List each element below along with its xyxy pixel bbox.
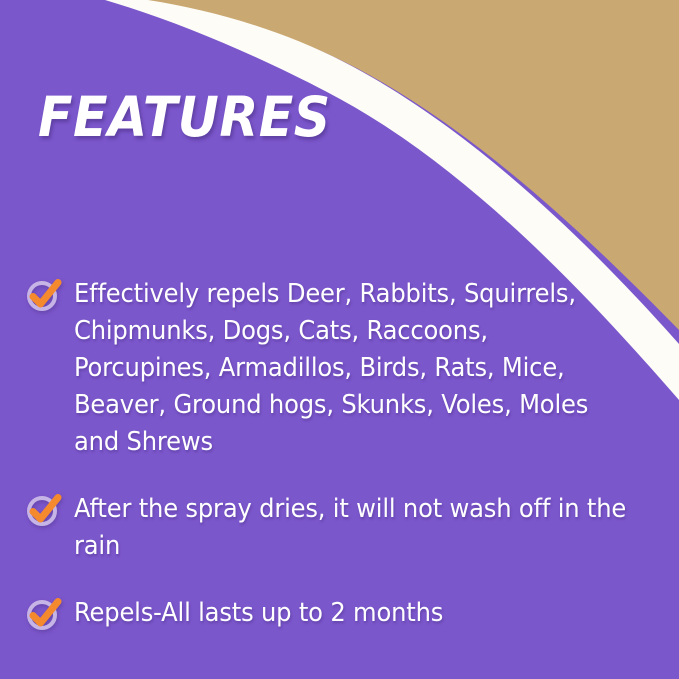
list-item: Repels-All lasts up to 2 months: [26, 595, 656, 632]
orange-check-circle-icon: [26, 278, 62, 312]
features-infographic-card: FEATURES Effectively repels Deer, Rabbit…: [0, 0, 679, 679]
orange-check-circle-icon: [26, 597, 62, 631]
list-item: Effectively repels Deer, Rabbits, Squirr…: [26, 276, 656, 461]
feature-text: Effectively repels Deer, Rabbits, Squirr…: [74, 276, 627, 461]
feature-text: After the spray dries, it will not wash …: [74, 491, 627, 565]
list-item: After the spray dries, it will not wash …: [26, 491, 656, 565]
orange-check-circle-icon: [26, 493, 62, 527]
header: FEATURES: [0, 0, 679, 200]
feature-text: Repels-All lasts up to 2 months: [74, 595, 627, 632]
page-title: FEATURES: [38, 88, 331, 146]
feature-list: Effectively repels Deer, Rabbits, Squirr…: [26, 276, 656, 632]
